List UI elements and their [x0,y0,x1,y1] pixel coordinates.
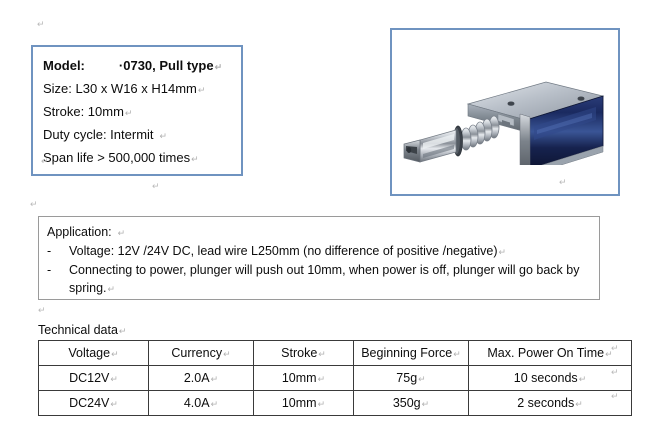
formatting-mark-icon: ↵ [421,399,430,409]
table-cell: 4.0A↵ [149,391,254,416]
technical-data-title: Technical data [38,323,118,337]
formatting-mark-icon: ↵ [498,247,507,257]
formatting-mark-icon: ↵ [417,374,426,384]
formatting-mark-icon: ↵ [452,349,461,359]
formatting-mark-icon: ↵ [37,20,45,29]
table-cell: 2.0A↵ [149,366,254,391]
formatting-mark-icon: ↵ [559,178,567,187]
formatting-mark-icon: ↵ [154,131,168,141]
spec-span-life-text: Span life > 500,000 times [43,150,190,165]
bullet-text-value: Connecting to power, plunger will push o… [69,263,579,295]
application-box: Application:↵ - Voltage: 12V /24V DC, le… [38,216,600,300]
formatting-mark-icon: ↵ [574,399,583,409]
cell-text: 10 seconds [514,371,578,385]
formatting-mark-icon: ↵ [578,374,587,384]
header-text: Currency [171,346,222,360]
formatting-mark-icon: ↵ [222,349,231,359]
spec-stroke-text: Stroke: 10mm [43,104,124,119]
table-cell: 10 seconds↵ [469,366,632,391]
model-label: Model: [43,58,85,73]
cell-text: 75g [396,371,417,385]
table-header-cell: Max. Power On Time↵ [469,341,632,366]
bullet-marker: - [47,242,69,261]
table-cell: 350g↵ [354,391,469,416]
spec-duty-cycle-line: Duty cycle: Intermit↵ [43,124,241,147]
table-header-cell: Beginning Force↵ [354,341,469,366]
formatting-mark-icon: ↵ [38,306,46,315]
spec-box: Model:·0730, Pull type↵ Size: L30 x W16 … [31,45,243,176]
spec-list: Model:·0730, Pull type↵ Size: L30 x W16 … [33,47,241,170]
table-header-cell: Stroke↵ [254,341,354,366]
cell-text: DC12V [69,371,109,385]
formatting-mark-icon: ↵ [317,399,326,409]
cell-text: 10mm [282,371,317,385]
model-value: 0730, Pull type [123,58,213,73]
formatting-mark-icon: ↵ [41,157,49,166]
product-photo [392,30,618,194]
bullet-text: Voltage: 12V /24V DC, lead wire L250mm (… [69,242,591,261]
formatting-mark-icon: ↵ [210,374,219,384]
table-cell: 2 seconds↵ [469,391,632,416]
formatting-mark-icon: ↵ [124,108,133,118]
formatting-mark-icon: ↵ [107,284,116,294]
formatting-mark-icon: ↵ [214,62,223,72]
header-text: Max. Power On Time [487,346,604,360]
formatting-mark-icon: ↵ [109,399,118,409]
spec-duty-cycle-text: Duty cycle: Intermit [43,127,154,142]
cell-text: 2 seconds [517,396,574,410]
solenoid-illustration [398,70,613,165]
table-cell: DC12V↵ [39,366,149,391]
table-cell: DC24V↵ [39,391,149,416]
formatting-mark-icon: ↵ [110,349,119,359]
bullet-marker: - [47,261,69,298]
formatting-mark-icon: ↵ [112,228,126,238]
application-title: Application: [47,225,112,239]
table-cell: 75g↵ [354,366,469,391]
technical-data-table: Voltage↵ Currency↵ Stroke↵ Beginning For… [38,340,632,416]
table-cell: 10mm↵ [254,366,354,391]
spec-stroke-line: Stroke: 10mm↵ [43,101,241,124]
table-row: DC24V↵ 4.0A↵ 10mm↵ 350g↵ 2 seconds↵ [39,391,632,416]
table-cell: 10mm↵ [254,391,354,416]
technical-data-title-line: Technical data↵ [38,322,126,339]
formatting-mark-icon: ↵ [190,154,199,164]
formatting-mark-icon: ↵ [30,200,38,209]
bullet-text-value: Voltage: 12V /24V DC, lead wire L250mm (… [69,244,498,258]
cell-text: DC24V [69,396,109,410]
cell-text: 4.0A [184,396,210,410]
formatting-mark-icon: ↵ [317,349,326,359]
formatting-mark-icon: ↵ [109,374,118,384]
cell-text: 350g [393,396,421,410]
table-header-cell: Voltage↵ [39,341,149,366]
header-text: Beginning Force [361,346,452,360]
header-text: Stroke [281,346,317,360]
application-bullet: - Voltage: 12V /24V DC, lead wire L250mm… [47,242,591,261]
formatting-mark-icon: ↵ [604,349,613,359]
spec-size-line: Size: L30 x W16 x H14mm↵ [43,78,241,101]
table-header-cell: Currency↵ [149,341,254,366]
spec-size-text: Size: L30 x W16 x H14mm [43,81,197,96]
document-page: ↵ ↵ ↵ ↵ ↵ ↵ ↵ Model:·0730, Pull type↵ Si… [0,0,650,442]
formatting-mark-icon: ↵ [152,182,160,191]
bullet-text: Connecting to power, plunger will push o… [69,261,591,298]
product-image-box: ↵ [390,28,620,196]
application-bullet: - Connecting to power, plunger will push… [47,261,591,298]
cell-text: 10mm [282,396,317,410]
table-header-row: Voltage↵ Currency↵ Stroke↵ Beginning For… [39,341,632,366]
header-text: Voltage [68,346,110,360]
formatting-mark-icon: ↵ [118,326,127,336]
formatting-mark-icon: ↵ [210,399,219,409]
cell-text: 2.0A [184,371,210,385]
formatting-mark-icon: ↵ [317,374,326,384]
spec-span-life-line: Span life > 500,000 times↵ [43,147,241,170]
table-row: DC12V↵ 2.0A↵ 10mm↵ 75g↵ 10 seconds↵ [39,366,632,391]
application-title-line: Application:↵ [47,223,591,242]
formatting-mark-icon: ↵ [197,85,206,95]
spec-model-line: Model:·0730, Pull type↵ [43,55,241,78]
application-content: Application:↵ - Voltage: 12V /24V DC, le… [39,217,599,298]
